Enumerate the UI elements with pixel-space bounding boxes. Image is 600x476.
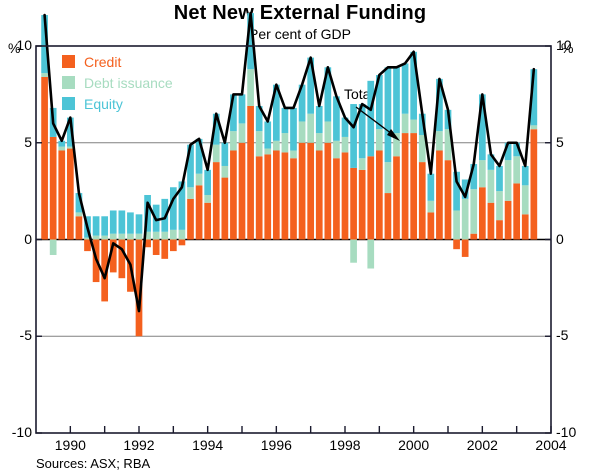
bar-credit xyxy=(324,143,331,240)
y-axis-label-left-0: 0 xyxy=(0,231,32,247)
bar-equity xyxy=(282,108,289,133)
bar-debt-issuance xyxy=(76,212,83,216)
bar-debt-issuance xyxy=(488,170,495,203)
bar-credit xyxy=(213,162,220,239)
bar-credit xyxy=(445,160,452,239)
bar-debt-issuance xyxy=(479,160,486,187)
bar-debt-issuance xyxy=(204,195,211,203)
bar-equity xyxy=(204,170,211,195)
bar-credit xyxy=(282,152,289,239)
bar-debt-issuance xyxy=(256,131,263,156)
bar-credit xyxy=(50,137,57,240)
bar-debt-issuance xyxy=(410,120,417,134)
bar-credit xyxy=(290,158,297,239)
bar-debt-issuance xyxy=(110,234,117,240)
bar-credit xyxy=(513,183,520,239)
bar-debt-issuance xyxy=(230,131,237,150)
bar-credit xyxy=(84,240,91,252)
bar-debt-issuance xyxy=(299,121,306,142)
bar-equity xyxy=(402,63,409,113)
bar-equity xyxy=(427,174,434,201)
bar-credit xyxy=(230,150,237,239)
bar-credit xyxy=(402,133,409,239)
bar-credit xyxy=(530,129,537,239)
bar-equity xyxy=(93,216,100,235)
x-axis-label-1992: 1992 xyxy=(109,437,169,453)
bar-debt-issuance xyxy=(496,191,503,220)
x-axis-label-2000: 2000 xyxy=(384,437,444,453)
bar-equity xyxy=(316,106,323,133)
bar-debt-issuance xyxy=(127,234,134,240)
plot-area xyxy=(0,0,600,476)
bar-equity xyxy=(290,108,297,151)
bar-credit xyxy=(350,168,357,240)
y-axis-label-right-10: 10 xyxy=(556,37,590,53)
bar-debt-issuance xyxy=(436,131,443,150)
bar-credit xyxy=(67,149,74,240)
bar-credit xyxy=(333,158,340,239)
total-line xyxy=(45,13,534,311)
bar-debt-issuance xyxy=(324,121,331,142)
bar-debt-issuance xyxy=(282,133,289,152)
bar-debt-issuance xyxy=(522,185,529,214)
bar-debt-issuance xyxy=(58,147,65,151)
bar-equity xyxy=(522,166,529,185)
bar-equity xyxy=(385,67,392,162)
bar-credit xyxy=(118,240,125,279)
bar-credit xyxy=(204,203,211,240)
bar-debt-issuance xyxy=(402,114,409,133)
bar-debt-issuance xyxy=(316,133,323,150)
bar-credit xyxy=(170,240,177,252)
x-axis-label-1990: 1990 xyxy=(40,437,100,453)
bar-debt-issuance xyxy=(221,166,228,178)
bar-debt-issuance xyxy=(453,210,460,239)
bar-credit xyxy=(367,156,374,239)
bar-credit xyxy=(436,150,443,239)
bar-equity xyxy=(350,104,357,168)
y-axis-label-left-10: 10 xyxy=(0,37,32,53)
bar-credit xyxy=(393,156,400,239)
bar-debt-issuance xyxy=(470,189,477,234)
bar-equity xyxy=(393,67,400,133)
bar-equity xyxy=(221,143,228,166)
bar-credit xyxy=(299,143,306,240)
bar-credit xyxy=(419,162,426,239)
bar-credit xyxy=(385,193,392,239)
bar-credit xyxy=(76,216,83,239)
bar-credit xyxy=(342,152,349,239)
bar-credit xyxy=(522,214,529,239)
bar-credit xyxy=(488,203,495,240)
bar-debt-issuance xyxy=(264,149,271,155)
bar-credit xyxy=(462,240,469,257)
bar-debt-issuance xyxy=(101,236,108,240)
bar-debt-issuance xyxy=(187,187,194,199)
bar-debt-issuance xyxy=(179,230,186,240)
bar-debt-issuance xyxy=(153,232,160,240)
bar-credit xyxy=(41,77,48,240)
bar-credit xyxy=(179,240,186,246)
bar-debt-issuance xyxy=(41,73,48,77)
bar-debt-issuance xyxy=(273,141,280,151)
x-axis-label-1996: 1996 xyxy=(246,437,306,453)
bar-credit xyxy=(153,240,160,255)
x-axis-label-1994: 1994 xyxy=(178,437,238,453)
bar-credit xyxy=(161,240,168,259)
x-axis-label-2004: 2004 xyxy=(521,437,581,453)
bar-credit xyxy=(273,150,280,239)
bar-debt-issuance xyxy=(350,240,357,263)
bar-credit xyxy=(470,234,477,240)
bar-credit xyxy=(496,220,503,239)
bar-credit xyxy=(376,150,383,239)
bar-equity xyxy=(136,214,143,233)
bar-credit xyxy=(187,199,194,240)
bar-credit xyxy=(427,212,434,239)
bar-debt-issuance xyxy=(213,145,220,162)
bar-equity xyxy=(239,94,246,123)
bar-debt-issuance xyxy=(196,174,203,186)
bar-equity xyxy=(127,212,134,233)
bar-debt-issuance xyxy=(333,141,340,158)
bar-credit xyxy=(307,143,314,240)
bar-credit xyxy=(453,240,460,250)
bar-debt-issuance xyxy=(427,201,434,213)
x-axis-label-1998: 1998 xyxy=(315,437,375,453)
bar-debt-issuance xyxy=(118,234,125,240)
bar-debt-issuance xyxy=(290,150,297,158)
bar-debt-issuance xyxy=(93,236,100,240)
bar-debt-issuance xyxy=(462,199,469,240)
bar-credit xyxy=(410,133,417,239)
bar-credit xyxy=(221,178,228,240)
bar-credit xyxy=(264,154,271,239)
bar-debt-issuance xyxy=(385,162,392,193)
chart-sources: Sources: ASX; RBA xyxy=(36,456,150,471)
x-axis-label-2002: 2002 xyxy=(452,437,512,453)
bar-credit xyxy=(58,150,65,239)
bar-credit xyxy=(505,201,512,240)
bar-equity xyxy=(118,210,125,233)
chart-figure: Net New External Funding Per cent of GDP… xyxy=(0,0,600,476)
bar-credit xyxy=(247,106,254,240)
bar-equity xyxy=(264,121,271,148)
bar-debt-issuance xyxy=(247,69,254,106)
bar-debt-issuance xyxy=(359,158,366,170)
bar-equity xyxy=(110,210,117,233)
bar-debt-issuance xyxy=(161,232,168,240)
bar-equity xyxy=(101,216,108,235)
bar-credit xyxy=(316,150,323,239)
bar-equity xyxy=(496,166,503,191)
bar-debt-issuance xyxy=(513,156,520,183)
bar-debt-issuance xyxy=(530,125,537,129)
bar-debt-issuance xyxy=(505,160,512,201)
bar-debt-issuance xyxy=(307,114,314,143)
bar-debt-issuance xyxy=(170,230,177,240)
bar-debt-issuance xyxy=(342,137,349,152)
bar-credit xyxy=(239,143,246,240)
bar-debt-issuance xyxy=(376,129,383,150)
y-axis-label-right-0: 0 xyxy=(556,231,590,247)
bar-credit xyxy=(196,185,203,239)
bar-debt-issuance xyxy=(50,240,57,255)
bar-credit xyxy=(359,170,366,240)
bar-debt-issuance xyxy=(239,123,246,142)
y-axis-label-left--5: -5 xyxy=(0,327,32,343)
y-axis-label-left--10: -10 xyxy=(0,424,32,440)
bar-credit xyxy=(479,187,486,239)
y-axis-label-right--5: -5 xyxy=(556,327,590,343)
bar-debt-issuance xyxy=(367,240,374,269)
y-axis-label-left-5: 5 xyxy=(0,134,32,150)
bar-debt-issuance xyxy=(136,234,143,240)
y-axis-label-right-5: 5 xyxy=(556,134,590,150)
bar-credit xyxy=(256,156,263,239)
